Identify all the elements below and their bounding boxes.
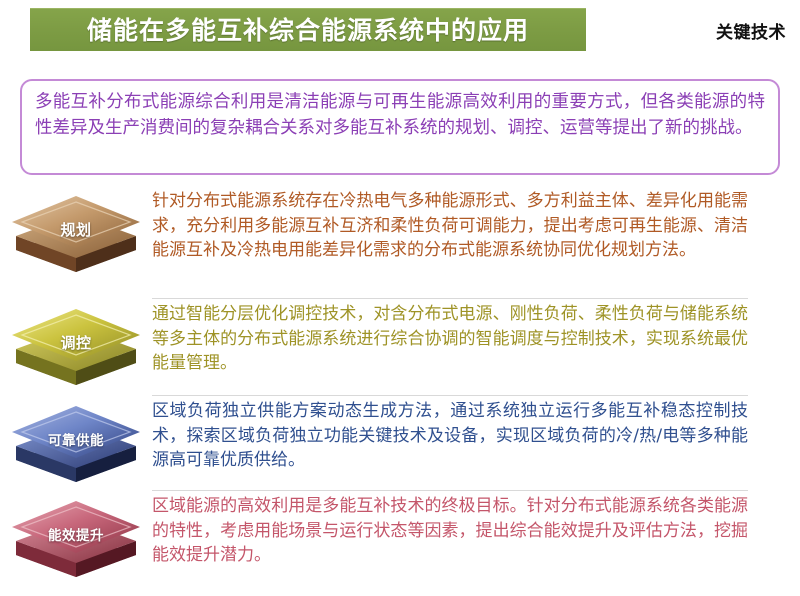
intro-callout-box: 多能互补分布式能源综合利用是清洁能源与可再生能源高效利用的重要方式，但各类能源的… — [20, 79, 780, 175]
section-row-planning: 规划 针对分布式能源系统存在冷热电气多种能源形式、多方利益主体、差异化用能需求，… — [0, 186, 800, 299]
badge-cell: 能效提升 — [0, 491, 152, 581]
badge-cell: 规划 — [0, 186, 152, 276]
slide-header: 储能在多能互补综合能源系统中的应用 关键技术 — [0, 0, 800, 60]
slide-title-bar: 储能在多能互补综合能源系统中的应用 — [30, 8, 586, 51]
section-description: 针对分布式能源系统存在冷热电气多种能源形式、多方利益主体、差异化用能需求，充分利… — [152, 189, 748, 263]
section-text-cell: 针对分布式能源系统存在冷热电气多种能源形式、多方利益主体、差异化用能需求，充分利… — [152, 186, 800, 263]
intro-callout-text: 多能互补分布式能源综合利用是清洁能源与可再生能源高效利用的重要方式，但各类能源的… — [35, 90, 765, 142]
section-row-control: 调控 通过智能分层优化调控技术，对含分布式电源、刚性负荷、柔性负荷与储能系统等多… — [0, 299, 800, 396]
diamond-plaque-icon: 规划 — [10, 192, 142, 276]
section-description: 区域负荷独立供能方案动态生成方法，通过系统独立运行多能互补稳态控制技术，探索区域… — [152, 399, 748, 473]
badge-cell: 调控 — [0, 299, 152, 389]
page-title: 储能在多能互补综合能源系统中的应用 — [87, 18, 529, 43]
section-category-label: 关键技术 — [716, 18, 786, 43]
diamond-plaque-icon: 调控 — [10, 305, 142, 389]
section-text-cell: 通过智能分层优化调控技术，对含分布式电源、刚性负荷、柔性负荷与储能系统等多主体的… — [152, 299, 800, 376]
section-description: 区域能源的高效利用是多能互补技术的终极目标。针对分布式能源系统各类能源的特性，考… — [152, 494, 748, 568]
section-row-efficiency: 能效提升 区域能源的高效利用是多能互补技术的终极目标。针对分布式能源系统各类能源… — [0, 491, 800, 587]
sections-list: 规划 针对分布式能源系统存在冷热电气多种能源形式、多方利益主体、差异化用能需求，… — [0, 186, 800, 587]
section-text-cell: 区域负荷独立供能方案动态生成方法，通过系统独立运行多能互补稳态控制技术，探索区域… — [152, 396, 800, 473]
diamond-plaque-icon: 可靠供能 — [10, 402, 142, 486]
section-row-reliable-supply: 可靠供能 区域负荷独立供能方案动态生成方法，通过系统独立运行多能互补稳态控制技术… — [0, 396, 800, 491]
section-description: 通过智能分层优化调控技术，对含分布式电源、刚性负荷、柔性负荷与储能系统等多主体的… — [152, 302, 748, 376]
section-text-cell: 区域能源的高效利用是多能互补技术的终极目标。针对分布式能源系统各类能源的特性，考… — [152, 491, 800, 568]
diamond-plaque-icon: 能效提升 — [10, 497, 142, 581]
badge-cell: 可靠供能 — [0, 396, 152, 486]
